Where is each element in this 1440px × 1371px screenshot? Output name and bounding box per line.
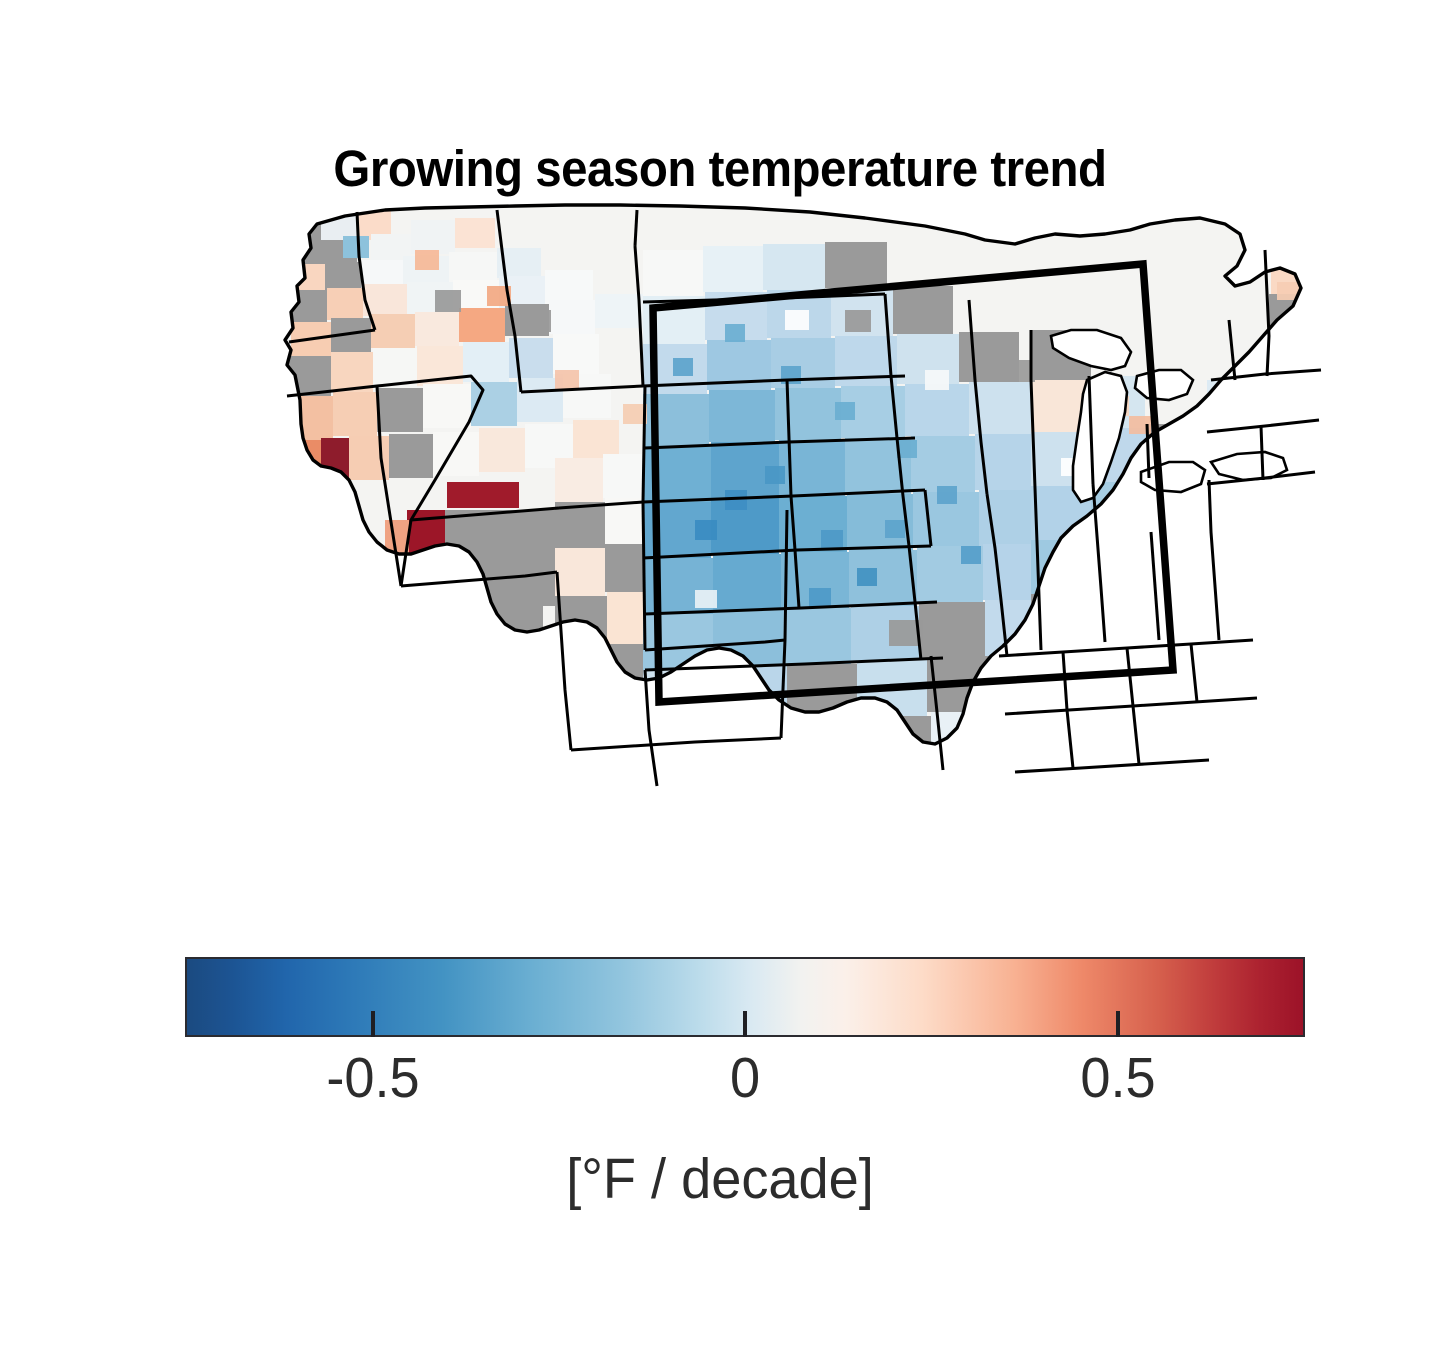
colorbar-axis-label: [°F / decade] (36, 1146, 1404, 1212)
region-appalachia (1211, 528, 1321, 640)
colorbar-tick-pos05 (1116, 1011, 1120, 1037)
choropleth-map (225, 190, 1325, 890)
us-county-map-svg (225, 190, 1325, 890)
colorbar-section: -0.5 0 0.5 [°F / decade] (0, 950, 1440, 1280)
colorbar-tick-zero (743, 1011, 747, 1037)
colorbar-ticklabel-zero: 0 (730, 1045, 760, 1111)
colorbar-ticklabel-neg05: -0.5 (326, 1045, 419, 1111)
colorbar-tick-neg05 (371, 1011, 375, 1037)
title-line-1: Growing season temperature trend (50, 140, 1389, 197)
figure-canvas: Growing season temperature trend over ag… (0, 0, 1440, 1371)
colorbar-ticklabel-pos05: 0.5 (1080, 1045, 1155, 1111)
